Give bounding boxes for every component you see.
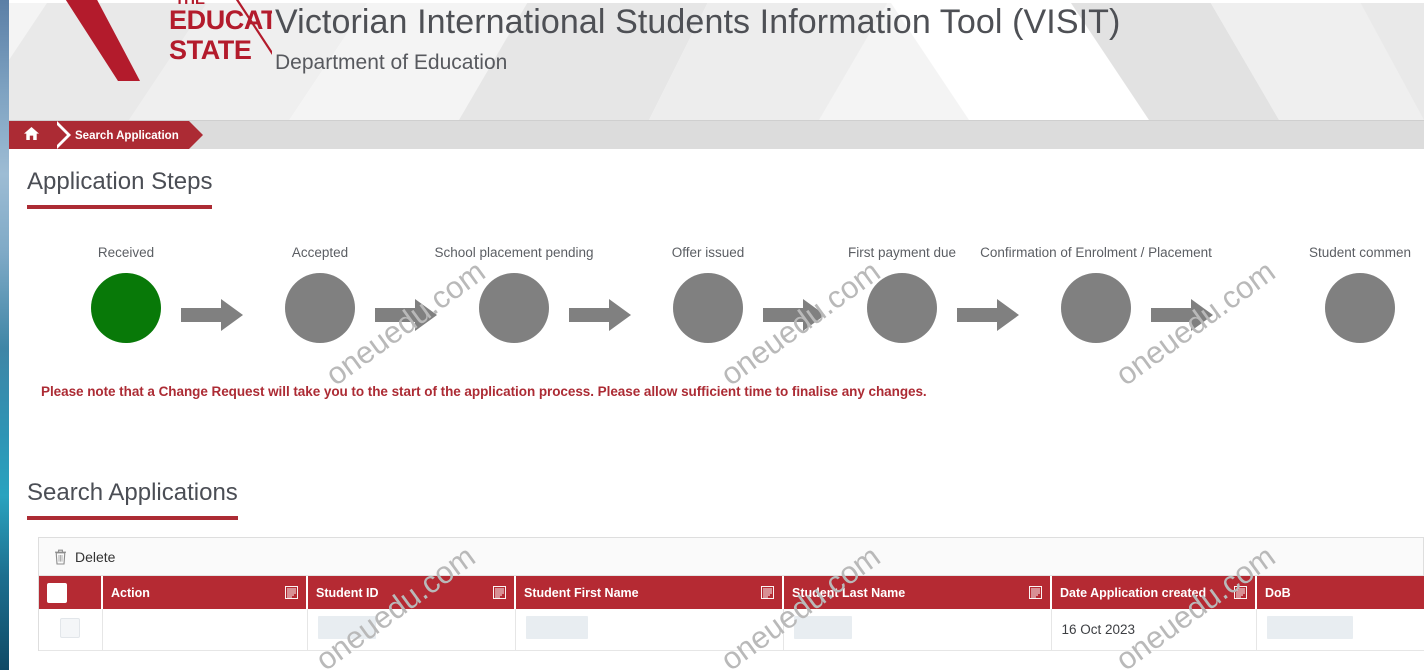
- trash-icon: [54, 549, 67, 565]
- step-arrow: [1151, 297, 1205, 323]
- applications-table: Action: [39, 576, 1424, 651]
- redacted-value: [318, 616, 376, 639]
- column-header-dob[interactable]: DoB: [1256, 576, 1424, 609]
- column-filter-icon[interactable]: [1234, 586, 1247, 599]
- column-header-label: DoB: [1265, 586, 1291, 600]
- breadcrumb-item-label: Search Application: [75, 130, 179, 142]
- step-indicator: [867, 273, 937, 343]
- cell-dob: [1256, 609, 1424, 650]
- step-arrow: [181, 297, 235, 323]
- column-header-label: Action: [111, 586, 150, 600]
- step-indicator: [285, 273, 355, 343]
- step-arrow: [763, 297, 817, 323]
- education-state-logo: THE EDUCATION STATE: [32, 0, 272, 94]
- page-subtitle: Department of Education: [275, 50, 1120, 76]
- page-title: Victorian International Students Informa…: [275, 2, 1120, 42]
- step-indicator-active: [91, 273, 161, 343]
- home-icon: [23, 126, 40, 146]
- step-label: Confirmation of Enrolment / Placement: [980, 245, 1212, 260]
- redacted-value: [794, 616, 852, 639]
- table-row[interactable]: 16 Oct 2023: [39, 609, 1424, 650]
- change-request-note: Please note that a Change Request will t…: [41, 384, 927, 399]
- step-label: First payment due: [848, 245, 956, 260]
- step-arrow: [375, 297, 429, 323]
- column-filter-icon[interactable]: [285, 586, 298, 599]
- step-arrow: [957, 297, 1011, 323]
- step-arrow: [569, 297, 623, 323]
- column-header-student-id[interactable]: Student ID: [307, 576, 515, 609]
- column-header-label: Date Application created: [1060, 586, 1206, 600]
- header-titles: Victorian International Students Informa…: [275, 0, 1120, 76]
- cell-action[interactable]: [102, 609, 307, 650]
- cell-student-first-name: [515, 609, 783, 650]
- breadcrumb-item-search-application[interactable]: Search Application: [53, 121, 189, 150]
- breadcrumb: Search Application: [9, 120, 1424, 149]
- breadcrumb-home-button[interactable]: [9, 121, 53, 150]
- step-label: Received: [98, 245, 154, 260]
- column-header-select-all[interactable]: [39, 576, 102, 609]
- delete-button-label: Delete: [75, 549, 115, 565]
- column-filter-icon[interactable]: [761, 586, 774, 599]
- step-indicator: [479, 273, 549, 343]
- step-label: Student commen: [1309, 245, 1411, 260]
- column-header-label: Student Last Name: [792, 586, 905, 600]
- cell-student-last-name: [783, 609, 1051, 650]
- search-applications-heading: Search Applications: [27, 479, 238, 520]
- redacted-value: [526, 616, 588, 639]
- cell-value: 16 Oct 2023: [1062, 622, 1136, 637]
- column-filter-icon[interactable]: [493, 586, 506, 599]
- step-indicator: [1325, 273, 1395, 343]
- search-applications-panel: Delete: [38, 537, 1424, 651]
- step-label: Offer issued: [672, 245, 745, 260]
- delete-button[interactable]: Delete: [50, 547, 119, 567]
- application-steps-heading: Application Steps: [27, 168, 212, 209]
- table-toolbar: Delete: [39, 538, 1423, 576]
- column-header-label: Student First Name: [524, 586, 639, 600]
- step-indicator: [673, 273, 743, 343]
- column-header-label: Student ID: [316, 586, 379, 600]
- step-label: School placement pending: [434, 245, 593, 260]
- cell-date-application-created: 16 Oct 2023: [1051, 609, 1256, 650]
- table-header-row: Action: [39, 576, 1424, 609]
- site-header: THE EDUCATION STATE Victorian Internatio…: [9, 0, 1424, 120]
- select-all-checkbox[interactable]: [47, 583, 67, 603]
- column-header-date-application-created[interactable]: Date Application created: [1051, 576, 1256, 609]
- column-header-student-first-name[interactable]: Student First Name: [515, 576, 783, 609]
- step-label: Accepted: [292, 245, 348, 260]
- cell-student-id: [307, 609, 515, 650]
- application-steps-diagram: Received Accepted School placement pendi…: [9, 245, 1424, 355]
- column-filter-icon[interactable]: [1029, 586, 1042, 599]
- main-content: Application Steps Received Accepted: [9, 149, 1424, 670]
- browser-page: THE EDUCATION STATE Victorian Internatio…: [9, 0, 1424, 670]
- svg-text:STATE: STATE: [169, 35, 252, 65]
- row-select-cell[interactable]: [39, 609, 102, 650]
- step-indicator: [1061, 273, 1131, 343]
- column-header-student-last-name[interactable]: Student Last Name: [783, 576, 1051, 609]
- column-header-action[interactable]: Action: [102, 576, 307, 609]
- app-root: THE EDUCATION STATE Victorian Internatio…: [0, 0, 1424, 670]
- row-checkbox[interactable]: [60, 618, 80, 638]
- redacted-value: [1267, 616, 1353, 639]
